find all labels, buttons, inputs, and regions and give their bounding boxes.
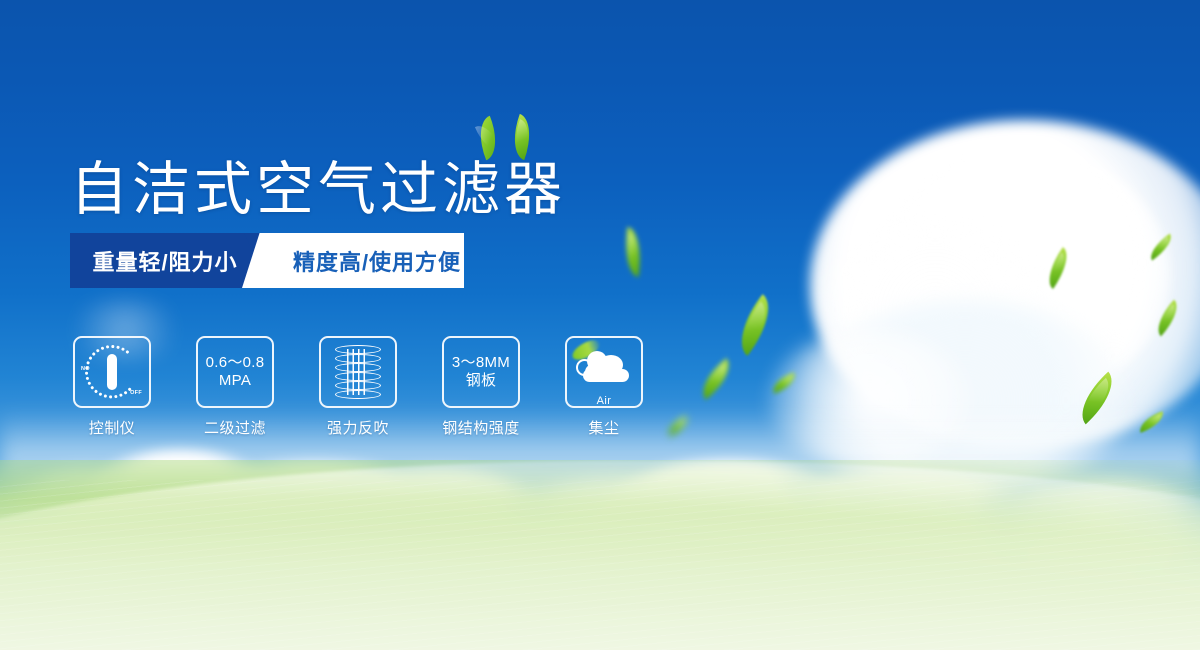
feature-label: 强力反吹 [327,417,389,438]
feature-label: 控制仪 [89,417,136,438]
feature-icon-box: NO OFF [73,336,151,408]
pressure-value-line1: 0.6～0.8 [206,354,265,371]
pressure-unit-line2: MPA [206,372,265,390]
feature-label: 二级过滤 [204,417,266,438]
page-title: 自洁式空气过滤器 [70,142,566,226]
feature-label: 集尘 [588,417,619,438]
filter-cartridge-icon [335,345,381,399]
tagline-left: 重量轻/阻力小 [70,233,270,288]
cloud-ring-icon [576,359,593,376]
feature-list: NO OFF 控制仪 0.6～0.8 MPA 二级过滤 [72,336,644,438]
banner-content: 自洁式空气过滤器 重量轻/阻力小 精度高/使用方便 [0,0,1200,650]
feature-icon-box: 3～8MM 钢板 [442,336,520,408]
steel-plate-text-icon: 3～8MM 钢板 [452,354,510,391]
feature-item-steel-strength[interactable]: 3～8MM 钢板 钢结构强度 [441,336,521,438]
air-label: Air [575,395,633,407]
gauge-icon: NO OFF [83,346,141,398]
air-cloud-icon: Air [575,349,633,395]
feature-item-two-stage-filter[interactable]: 0.6～0.8 MPA 二级过滤 [195,336,275,438]
pressure-text-icon: 0.6～0.8 MPA [206,354,265,391]
gauge-off-label: OFF [130,390,142,396]
feature-icon-box: Air [565,336,643,408]
tagline-bar: 重量轻/阻力小 精度高/使用方便 [70,233,464,288]
tagline-right: 精度高/使用方便 [270,233,464,288]
feature-icon-box: 0.6～0.8 MPA [196,336,274,408]
gauge-on-label: NO [81,366,90,372]
steel-material-line2: 钢板 [452,372,510,390]
feature-item-backflush[interactable]: 强力反吹 [318,336,398,438]
feature-item-dust-collection[interactable]: Air 集尘 [564,336,644,438]
feature-icon-box [319,336,397,408]
gauge-needle-icon [107,354,117,390]
feature-item-controller[interactable]: NO OFF 控制仪 [72,336,152,438]
feature-label: 钢结构强度 [442,417,520,438]
steel-thickness-line1: 3～8MM [452,354,510,371]
product-hero-banner: 自洁式空气过滤器 重量轻/阻力小 精度高/使用方便 [0,0,1200,650]
